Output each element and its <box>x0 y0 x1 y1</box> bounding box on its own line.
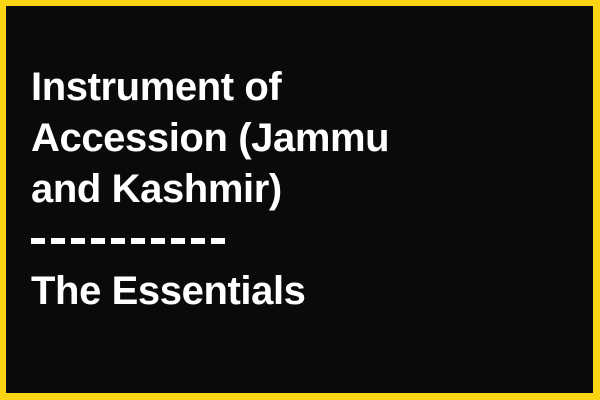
divider-dash <box>211 238 225 244</box>
divider-dash <box>51 238 65 244</box>
dashed-divider <box>31 215 585 266</box>
divider-dash <box>111 238 125 244</box>
divider-dash <box>191 238 205 244</box>
card-body: Instrument of Accession (Jammu and Kashm… <box>6 6 593 393</box>
divider-dash <box>91 238 105 244</box>
title-line-1: Instrument of <box>31 65 281 109</box>
divider-dash <box>151 238 165 244</box>
divider-dash <box>131 238 145 244</box>
title-line-3: and Kashmir) <box>31 167 282 211</box>
page-subtitle: The Essentials <box>31 266 585 317</box>
divider-dash <box>71 238 85 244</box>
title-line-2: Accession (Jammu <box>31 116 389 160</box>
card-text-block: Instrument of Accession (Jammu and Kashm… <box>31 62 585 317</box>
dashed-divider-dashes <box>31 215 231 266</box>
page-title: Instrument of Accession (Jammu and Kashm… <box>31 62 585 215</box>
title-card: Instrument of Accession (Jammu and Kashm… <box>0 0 600 400</box>
divider-dash <box>31 238 45 244</box>
divider-dash <box>171 238 185 244</box>
